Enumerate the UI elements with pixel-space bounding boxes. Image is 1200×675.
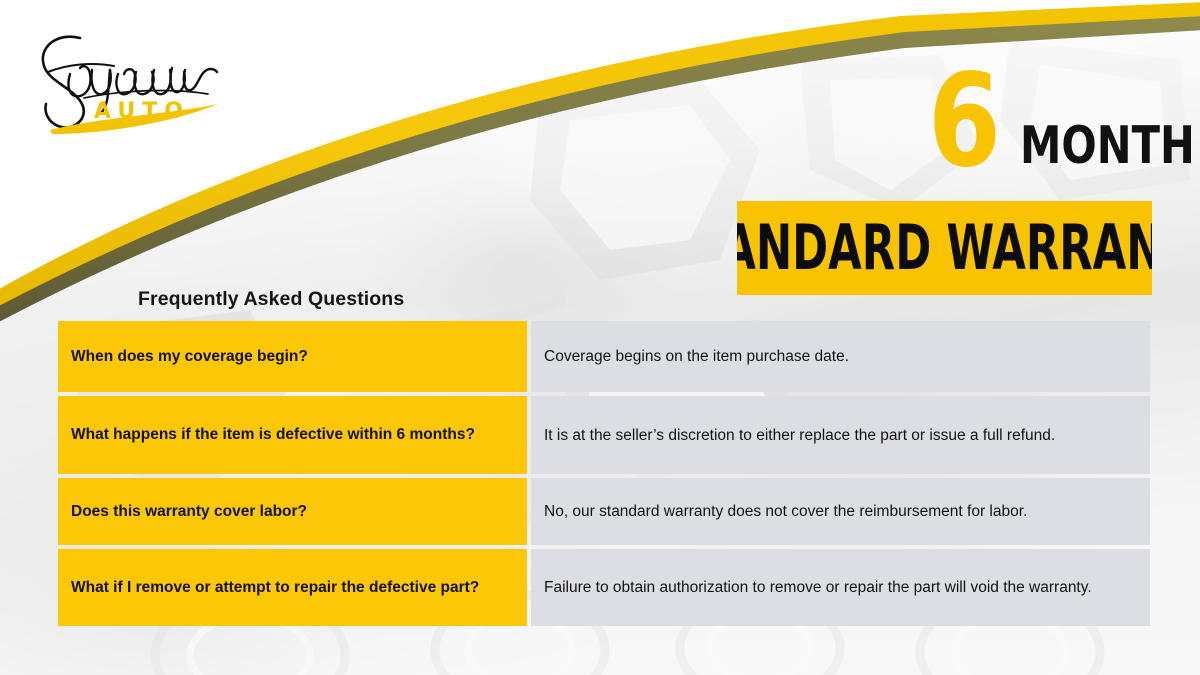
- faq-answer: It is at the seller’s discretion to eith…: [531, 396, 1150, 474]
- faq-answer-text: Coverage begins on the item purchase dat…: [544, 346, 1136, 367]
- faq-answer-text: Failure to obtain authorization to remov…: [544, 577, 1136, 598]
- faq-answer: No, our standard warranty does not cover…: [531, 478, 1150, 545]
- faq-answer: Coverage begins on the item purchase dat…: [531, 321, 1150, 392]
- standard-warranty-text: STANDARD WARRANTY: [737, 217, 1152, 279]
- faq-answer-text: No, our standard warranty does not cover…: [544, 501, 1136, 522]
- faq-question: What happens if the item is defective wi…: [58, 396, 527, 474]
- faq-question: Does this warranty cover labor?: [58, 478, 527, 545]
- warranty-duration: 6 MONTH: [920, 72, 1160, 192]
- seymour-auto-logo: AUTO Seymour AUTO: [22, 22, 232, 137]
- standard-warranty-banner: STANDARD WARRANTY: [737, 201, 1152, 295]
- faq-question: What if I remove or attempt to repair th…: [58, 549, 527, 626]
- faq-table: When does my coverage begin? Coverage be…: [58, 321, 1150, 630]
- faq-answer: Failure to obtain authorization to remov…: [531, 549, 1150, 626]
- table-row: What happens if the item is defective wi…: [58, 396, 1150, 474]
- warranty-slide: AUTO Seymour AUTO 6 MONTH STANDARD WARRA…: [0, 0, 1200, 675]
- faq-question: When does my coverage begin?: [58, 321, 527, 392]
- faq-heading: Frequently Asked Questions: [138, 288, 404, 311]
- duration-number: 6: [928, 58, 999, 186]
- table-row: What if I remove or attempt to repair th…: [58, 549, 1150, 626]
- table-row: When does my coverage begin? Coverage be…: [58, 321, 1150, 392]
- faq-answer-text: It is at the seller’s discretion to eith…: [544, 425, 1136, 446]
- duration-unit: MONTH: [1020, 120, 1195, 172]
- table-row: Does this warranty cover labor? No, our …: [58, 478, 1150, 545]
